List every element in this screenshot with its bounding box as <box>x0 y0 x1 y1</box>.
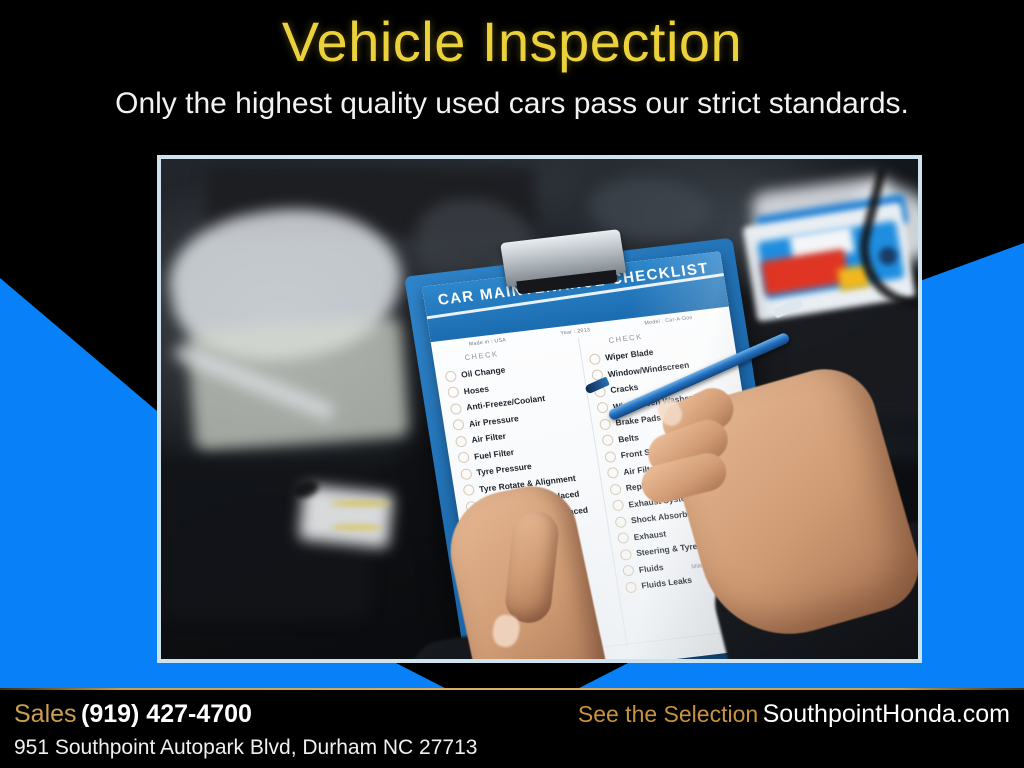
checkbox-circle-icon <box>447 386 460 398</box>
checkbox-circle-icon <box>455 435 468 447</box>
checklist-item-label: Hoses <box>463 383 490 396</box>
checklist-item-label: Cracks <box>610 382 639 395</box>
see-selection-label: See the Selection <box>578 701 758 727</box>
checkbox-circle-icon <box>620 548 633 560</box>
website-url[interactable]: SouthpointHonda.com <box>763 700 1010 728</box>
checklist-item-label: Fluids Leaks <box>641 575 693 591</box>
checkbox-circle-icon <box>604 451 617 463</box>
checkbox-circle-icon <box>596 402 609 414</box>
dealer-address: 951 Southpoint Autopark Blvd, Durham NC … <box>14 736 477 760</box>
checkbox-circle-icon <box>460 468 473 480</box>
checkbox-circle-icon <box>589 353 602 365</box>
checklist-item-label: Fuel Filter <box>473 447 514 462</box>
phone-number[interactable]: (919) 427-4700 <box>81 700 252 728</box>
page-subtitle: Only the highest quality used cars pass … <box>0 86 1024 122</box>
sales-line: Sales (919) 427-4700 <box>14 700 252 729</box>
checkbox-circle-icon <box>457 452 470 464</box>
service-tag-line-2 <box>331 525 383 530</box>
checkbox-circle-icon <box>622 565 635 577</box>
blue-wedge-left <box>0 270 170 688</box>
checkbox-circle-icon <box>617 532 630 544</box>
checkbox-circle-icon <box>463 484 476 496</box>
checkbox-circle-icon <box>450 403 463 415</box>
vehicle-inspection-slide: Vehicle Inspection Only the highest qual… <box>0 0 1024 768</box>
checkbox-circle-icon <box>444 370 457 382</box>
checkbox-circle-icon <box>614 516 627 528</box>
hero-photo-frame: CAR MAINTENANCE CHECKLIST Made in : USA … <box>157 155 922 663</box>
page-title: Vehicle Inspection <box>0 10 1024 74</box>
checkbox-circle-icon <box>612 500 625 512</box>
sales-label: Sales <box>14 700 77 728</box>
checkbox-circle-icon <box>599 418 612 430</box>
contact-footer: Sales (919) 427-4700 951 Southpoint Auto… <box>0 690 1024 768</box>
service-tag-line-1 <box>331 501 391 506</box>
hero-photo: CAR MAINTENANCE CHECKLIST Made in : USA … <box>161 159 918 659</box>
checklist-item-label: Air Filter <box>471 431 507 445</box>
checklist-item-label: Belts <box>617 432 639 444</box>
checkbox-circle-icon <box>601 434 614 446</box>
coolant-reservoir <box>187 317 410 452</box>
website-line: See the Selection SouthpointHonda.com <box>578 700 1010 729</box>
checklist-item-label: Exhaust <box>633 528 667 542</box>
checkbox-circle-icon <box>607 467 620 479</box>
checkbox-circle-icon <box>625 581 638 593</box>
checkbox-circle-icon <box>609 483 622 495</box>
checklist-item-label: Fluids <box>638 562 664 575</box>
checkbox-circle-icon <box>452 419 465 431</box>
